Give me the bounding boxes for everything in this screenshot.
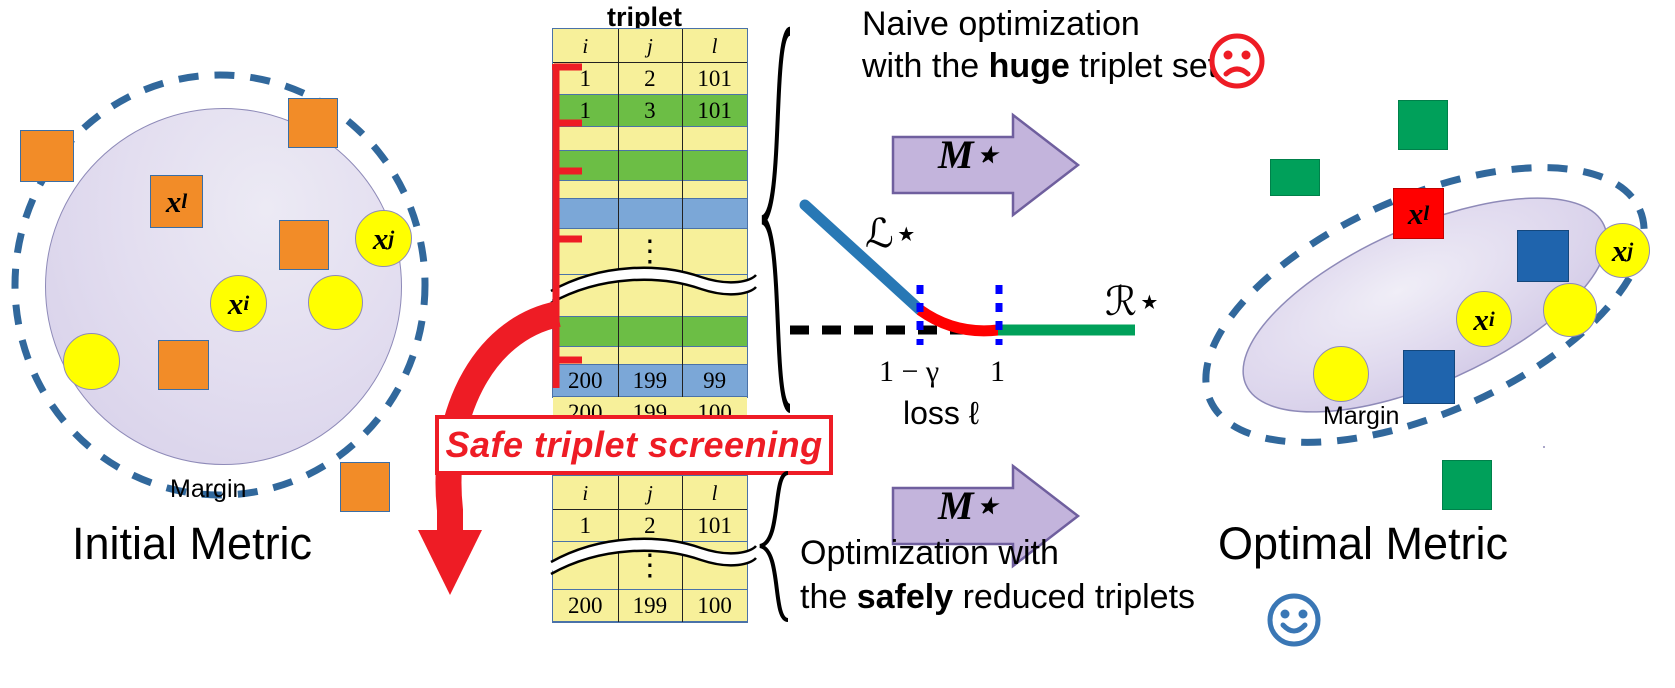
point-circle-yellow [308,275,363,330]
point-x-j-subscript: j [388,228,394,249]
bottom-caption-line1: Optimization with [800,534,1059,572]
top-caption-huge: huge [989,47,1070,85]
point-square-blue [1403,350,1455,404]
triplet-table-cell [618,181,683,198]
bottom-caption-line2-a: the [800,578,857,616]
reduced-table-header-i: i [553,476,618,510]
triplet-table-cell: 2 [618,63,683,94]
regularizer-label: ℛ⋆ [1105,278,1162,325]
initial-metric-panel: xl xj xi Margin [0,70,450,530]
point-circle-yellow [1313,346,1369,402]
point-square-orange [20,130,74,182]
table-column-divider [682,29,683,397]
triplet-table-header-l: l [682,29,747,63]
reduced-table-cell: 100 [682,590,747,621]
triplet-table-cell [682,317,747,346]
point-x-l: xl [150,175,203,228]
point-square-green [1442,460,1492,510]
triplet-table-cell: 101 [682,95,747,126]
top-caption-line2: with the huge triplet set [862,47,1217,85]
point-x-l-right-label: x [1408,198,1424,229]
point-x-i-right-subscript: i [1489,309,1495,330]
tick-label-right: 1 [990,355,1005,389]
point-x-j-label: x [373,223,389,254]
point-square-orange [279,220,329,270]
point-circle-yellow [1543,446,1545,448]
top-caption-line2-b: triplet set [1070,47,1217,85]
table-break-wave [551,538,749,578]
safe-triplet-screening-banner: Safe triplet screening [435,415,833,475]
reduced-table-cell: 2 [618,510,683,541]
triplet-table-cell: 3 [618,95,683,126]
point-circle-yellow [1543,283,1597,337]
reduced-table-cell: 199 [618,590,683,621]
triplet-table-cell [618,151,683,180]
bottom-caption-line2: the safely reduced triplets [800,578,1195,616]
triplet-table-cell [682,199,747,228]
optimal-metric-panel: xl xj xi Margin [1175,160,1675,450]
point-x-i-label: x [228,288,244,319]
point-x-l-subscript: l [181,191,187,212]
triplet-table-cell: 101 [682,63,747,94]
triplet-table-cell [682,181,747,198]
bottom-caption-safely: safely [857,578,953,616]
reduced-table-header-row: ijl [553,476,747,510]
bottom-caption-line2-b: reduced triplets [953,578,1195,616]
sad-face-icon [1208,32,1266,90]
initial-metric-caption: Initial Metric [72,518,312,570]
point-x-j-right: xj [1595,223,1650,278]
reduced-table-cell: 200 [553,590,618,621]
arrow-bottom-label: M⋆ [938,482,999,529]
top-caption-line1: Naive optimization [862,5,1140,43]
loss-axis-label: loss ℓ [903,395,979,432]
smiley-face-icon [1266,592,1322,648]
point-x-j-right-label: x [1612,235,1628,266]
point-x-i-right: xi [1456,291,1512,347]
point-square-green [1270,159,1320,196]
reduced-table-row: 200199100 [553,590,747,622]
point-x-i-right-label: x [1473,304,1489,335]
optimal-metric-caption: Optimal Metric [1218,518,1508,570]
triplet-table-cell [682,127,747,150]
margin-label-left: Margin [170,475,246,504]
point-x-l-right-subscript: l [1423,203,1429,224]
point-x-i-subscript: i [243,293,249,314]
point-x-j: xj [355,210,412,267]
reduced-triplet-table: ijl12101⋮200199100 [552,475,748,623]
point-circle-yellow [63,333,120,390]
margin-label-right: Margin [1323,402,1399,431]
triplet-table-header-j: j [618,29,683,63]
triplet-table-cell [682,151,747,180]
reduced-table-header-l: l [682,476,747,510]
triplet-table-cell: 99 [682,365,747,396]
reduced-table-header-j: j [618,476,683,510]
safe-triplet-screening-text: Safe triplet screening [445,424,822,466]
arrow-top-label: M⋆ [938,131,999,178]
point-x-l-label: x [166,186,182,217]
point-x-i: xi [210,275,267,332]
reduced-table-cell: 101 [682,510,747,541]
triplet-table-cell [618,127,683,150]
point-square-green [1398,100,1448,150]
tick-label-left: 1 − γ [879,355,939,389]
top-caption-line2-a: with the [862,47,989,85]
top-brace [754,22,814,422]
point-square-blue [1517,230,1569,282]
point-x-l-right: xl [1393,188,1444,239]
triplet-table-cell [682,347,747,364]
point-x-j-right-subscript: j [1627,240,1633,261]
point-square-orange [158,340,209,390]
reduced-table-cell: 1 [553,510,618,541]
point-square-orange [340,462,390,512]
point-square-orange [288,98,338,148]
triplet-table-cell [618,199,683,228]
